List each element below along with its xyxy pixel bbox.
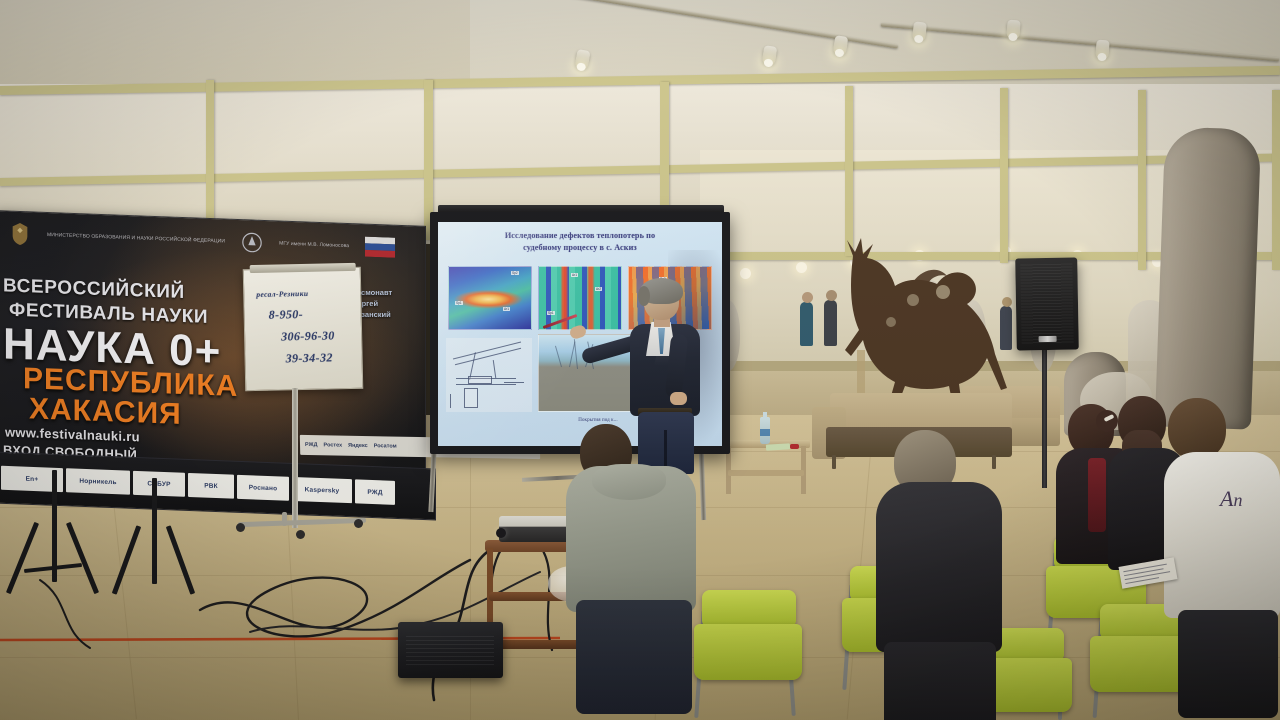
university-emblem-icon bbox=[241, 230, 263, 255]
audience-top-accent bbox=[1088, 458, 1106, 532]
speaker-stand bbox=[1042, 348, 1047, 488]
flipchart-heading: ресал-Резники bbox=[256, 289, 308, 299]
ministry-logo-text: МИНИСТЕРСТВО ОБРАЗОВАНИЯ И НАУКИ РОССИЙС… bbox=[47, 232, 225, 245]
audience-member bbox=[566, 424, 716, 714]
window-mullion-vertical bbox=[206, 80, 214, 230]
thermogram-label: Ar1 bbox=[571, 273, 578, 277]
water-bottle bbox=[760, 417, 770, 444]
window-mullion-vertical bbox=[1138, 90, 1146, 270]
flipchart-clip bbox=[250, 263, 356, 273]
audience-hood bbox=[592, 464, 666, 500]
flipchart-phone-line1: 8-950- bbox=[269, 307, 304, 323]
napkin bbox=[766, 443, 790, 450]
small-red-object bbox=[790, 444, 799, 449]
sponsor-logo: Росатом bbox=[374, 443, 397, 449]
window-mullion-vertical bbox=[1272, 90, 1280, 270]
audience-member: An bbox=[1164, 398, 1280, 718]
thermogram-roof-ridge: Sp1 Ar1 Sp2 bbox=[448, 266, 532, 330]
flipchart-phone-line2: 306-96-30 bbox=[281, 328, 335, 344]
sponsor-logo: РВК bbox=[188, 473, 234, 499]
russian-coat-of-arms-icon bbox=[9, 222, 31, 247]
thermogram-label: Sp1 bbox=[547, 311, 555, 315]
thermogram-label: Ar1 bbox=[503, 307, 510, 311]
audience-torso bbox=[876, 482, 1002, 652]
flipchart: ресал-Резники 8-950- 306-96-30 39-34-32 bbox=[236, 268, 368, 538]
tshirt-print: An bbox=[1220, 488, 1274, 528]
side-table-shelf bbox=[728, 470, 804, 476]
presenter-hand-right bbox=[670, 392, 687, 405]
lecture-scene-photo: МИНИСТЕРСТВО ОБРАЗОВАНИЯ И НАУКИ РОССИЙС… bbox=[0, 0, 1280, 720]
thermogram-label: Sp1 bbox=[455, 301, 463, 305]
flipchart-phone-line3: 39-34-32 bbox=[285, 350, 333, 366]
menhir-stele-exhibit bbox=[1155, 126, 1261, 429]
window-mullion-vertical bbox=[845, 86, 853, 256]
equipment-case bbox=[398, 622, 503, 678]
university-logo-text: МГУ имени М.В. Ломоносова bbox=[279, 240, 349, 249]
presenter-hair bbox=[640, 278, 683, 304]
ceiling-spotlight bbox=[1095, 40, 1109, 60]
thermogram-building-facade: Ar1 Ar2 Sp1 bbox=[538, 266, 622, 330]
chair-backrest bbox=[702, 590, 796, 628]
slide-title-line1: Исследование дефектов теплопотерь по bbox=[505, 231, 655, 240]
flipchart-paper: ресал-Резники 8-950- 306-96-30 39-34-32 bbox=[243, 267, 364, 391]
ceiling-spotlight bbox=[1006, 20, 1020, 40]
thermogram-label: Ar2 bbox=[595, 287, 602, 291]
audience-member bbox=[876, 430, 1016, 720]
audience-legs bbox=[1178, 610, 1278, 718]
slide-title-line2: судебному процессу в с. Аскиз bbox=[523, 243, 637, 252]
construction-section-diagram bbox=[446, 338, 532, 412]
gallery-light bbox=[740, 268, 751, 279]
thermogram-label: Sp2 bbox=[511, 271, 519, 275]
window-mullion-vertical bbox=[1000, 88, 1008, 263]
projector-lens-icon bbox=[496, 528, 506, 538]
projector-body bbox=[499, 516, 575, 542]
audience-torso bbox=[1164, 452, 1280, 618]
audience-head bbox=[1168, 398, 1226, 460]
pa-speaker bbox=[1015, 257, 1079, 350]
audience-legs bbox=[884, 642, 996, 720]
slide-title: Исследование дефектов теплопотерь по суд… bbox=[444, 230, 716, 254]
video-projector bbox=[499, 516, 575, 542]
partner-flag-icon bbox=[365, 237, 395, 258]
armchair-leg bbox=[832, 455, 836, 469]
speaker-brand-badge bbox=[1039, 336, 1057, 342]
audience-legs bbox=[576, 600, 692, 714]
flipchart-column bbox=[292, 388, 298, 528]
